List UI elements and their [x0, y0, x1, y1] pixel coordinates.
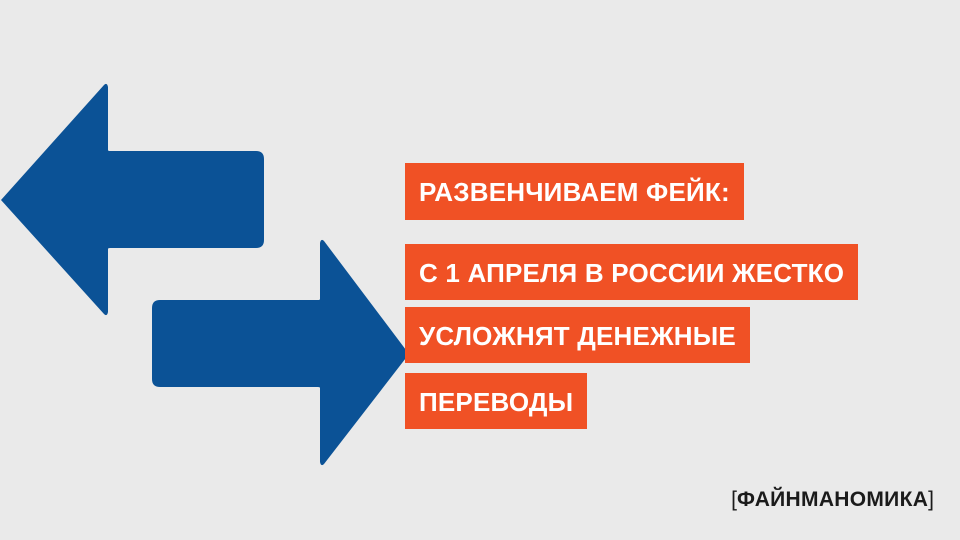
- brand-name: ФАЙНМАНОМИКА: [737, 488, 928, 511]
- headline-line-2: С 1 АПРЕЛЯ В РОССИИ ЖЕСТКО: [405, 244, 858, 300]
- brand-bracket-close: ]: [928, 488, 934, 511]
- poster-canvas: РАЗВЕНЧИВАЕМ ФЕЙК: С 1 АПРЕЛЯ В РОССИИ Ж…: [0, 0, 960, 540]
- headline-block: РАЗВЕНЧИВАЕМ ФЕЙК: С 1 АПРЕЛЯ В РОССИИ Ж…: [405, 163, 858, 429]
- arrow-right-icon: [152, 240, 409, 465]
- headline-line-4: ПЕРЕВОДЫ: [405, 373, 587, 429]
- headline-line-1: РАЗВЕНЧИВАЕМ ФЕЙК:: [405, 163, 744, 220]
- headline-line-3: УСЛОЖНЯТ ДЕНЕЖНЫЕ: [405, 307, 750, 363]
- brand-watermark: [ФАЙНМАНОМИКА]: [731, 489, 934, 510]
- arrow-left-icon: [1, 84, 264, 315]
